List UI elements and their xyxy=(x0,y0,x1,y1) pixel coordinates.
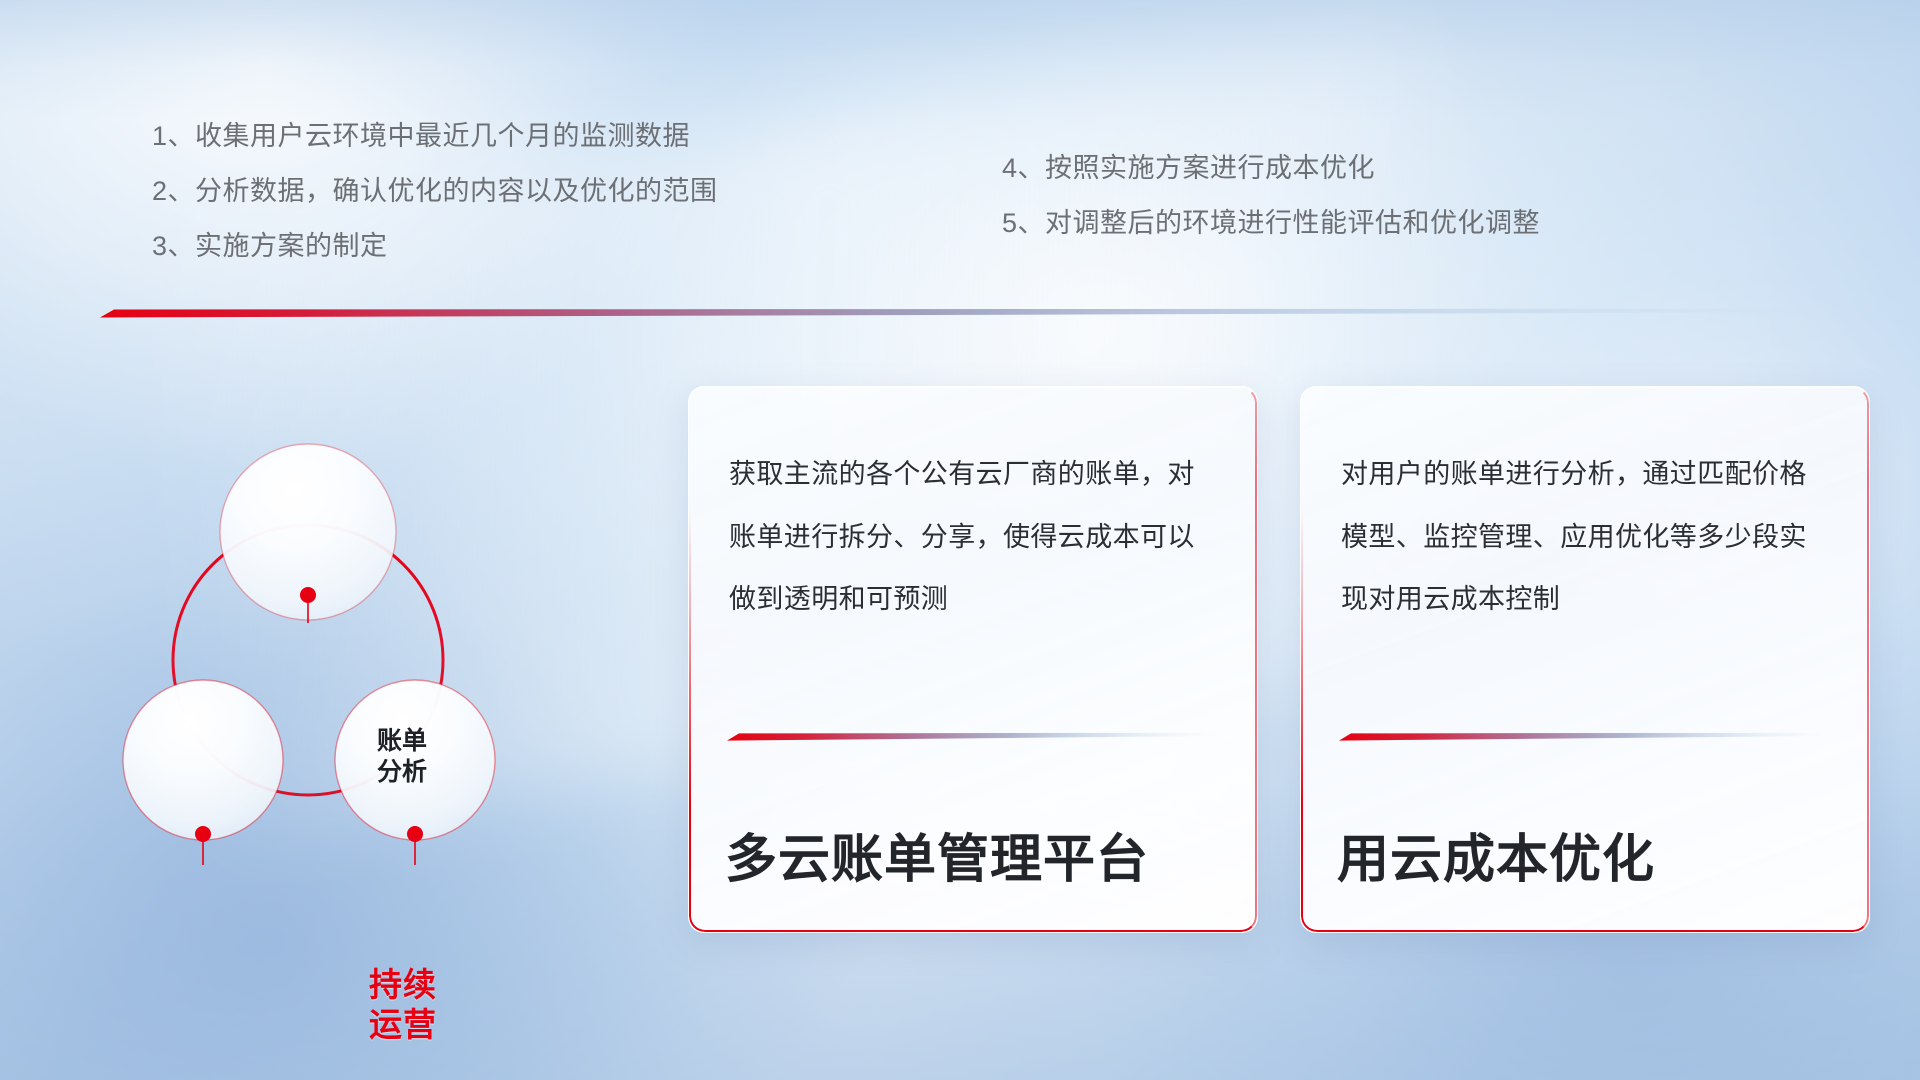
connector-dot-bottom-left xyxy=(195,826,211,842)
feature-card-1[interactable]: 获取主流的各个公有云厂商的账单，对账单进行拆分、分享，使得云成本可以做到透明和可… xyxy=(688,386,1258,933)
cycle-diagram-svg xyxy=(95,345,675,945)
step-item-5: 5、对调整后的环境进行性能评估和优化调整 xyxy=(1002,210,1540,237)
cycle-node-bottom-right[interactable] xyxy=(335,680,495,840)
steps-list-right: 4、按照实施方案进行成本优化 5、对调整后的环境进行性能评估和优化调整 xyxy=(1002,155,1540,265)
card-rule-2 xyxy=(1339,732,1829,741)
card-body-2: 对用户的账单进行分析，通过匹配价格模型、监控管理、应用优化等多少段实现对用云成本… xyxy=(1341,443,1833,631)
slide-root: 1、收集用户云环境中最近几个月的监测数据 2、分析数据，确认优化的内容以及优化的… xyxy=(0,0,1920,1080)
cycle-node-bottom-left[interactable] xyxy=(123,680,283,840)
card-rule-1 xyxy=(727,732,1217,741)
step-item-1: 1、收集用户云环境中最近几个月的监测数据 xyxy=(152,123,718,150)
connector-dot-bottom-right xyxy=(407,826,423,842)
connector-dot-top xyxy=(300,587,316,603)
card-title-1: 多云账单管理平台 xyxy=(725,817,1149,892)
step-item-4: 4、按照实施方案进行成本优化 xyxy=(1002,155,1540,182)
section-divider xyxy=(100,308,1832,318)
step-item-3: 3、实施方案的制定 xyxy=(152,233,718,260)
card-body-1: 获取主流的各个公有云厂商的账单，对账单进行拆分、分享，使得云成本可以做到透明和可… xyxy=(729,443,1221,631)
feature-card-2[interactable]: 对用户的账单进行分析，通过匹配价格模型、监控管理、应用优化等多少段实现对用云成本… xyxy=(1300,386,1870,933)
cycle-diagram: 账单 分析 操作 运营 优化 策略 持续 运营 xyxy=(95,345,675,945)
card-title-2: 用云成本优化 xyxy=(1337,817,1655,892)
cycle-center-label: 持续 运营 xyxy=(313,965,493,1046)
step-item-2: 2、分析数据，确认优化的内容以及优化的范围 xyxy=(152,178,718,205)
steps-list-left: 1、收集用户云环境中最近几个月的监测数据 2、分析数据，确认优化的内容以及优化的… xyxy=(152,123,718,288)
